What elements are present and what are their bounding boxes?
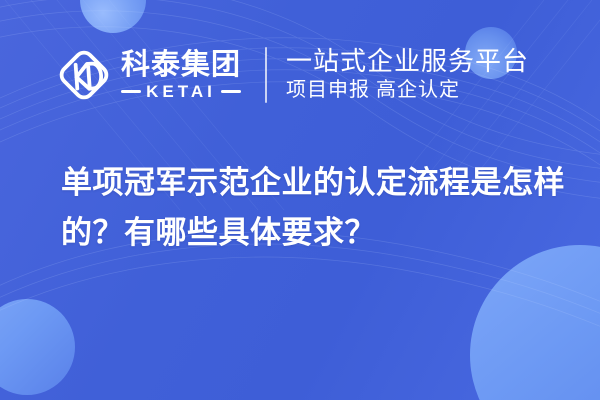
wordmark-rule-right bbox=[221, 90, 241, 93]
wordmark-rule-left bbox=[121, 90, 141, 93]
tagline-secondary: 项目申报 高企认定 bbox=[286, 77, 529, 104]
header-divider bbox=[265, 47, 267, 103]
brand-name-cn: 科泰集团 bbox=[121, 50, 241, 80]
circle-right-decoration bbox=[470, 245, 600, 400]
brand-name-en: KETAI bbox=[146, 83, 216, 100]
ketai-diamond-kd-monogram-icon bbox=[57, 48, 111, 102]
promo-banner: 科泰集团 KETAI 一站式企业服务平台 项目申报 高企认定 单项冠军示范企业的… bbox=[0, 0, 600, 400]
brand-logo-wordmark: 科泰集团 KETAI bbox=[121, 50, 241, 100]
circle-top-decoration bbox=[80, 0, 146, 33]
tagline-primary: 一站式企业服务平台 bbox=[286, 46, 529, 77]
circle-left-decoration bbox=[0, 299, 75, 395]
article-headline: 单项冠军示范企业的认定流程是怎样的？有哪些具体要求？ bbox=[61, 158, 569, 258]
tagline-block: 一站式企业服务平台 项目申报 高企认定 bbox=[286, 46, 529, 104]
brand-name-en-row: KETAI bbox=[121, 83, 241, 100]
brand-logo[interactable]: 科泰集团 KETAI bbox=[57, 48, 241, 102]
banner-header: 科泰集团 KETAI 一站式企业服务平台 项目申报 高企认定 bbox=[0, 36, 600, 114]
